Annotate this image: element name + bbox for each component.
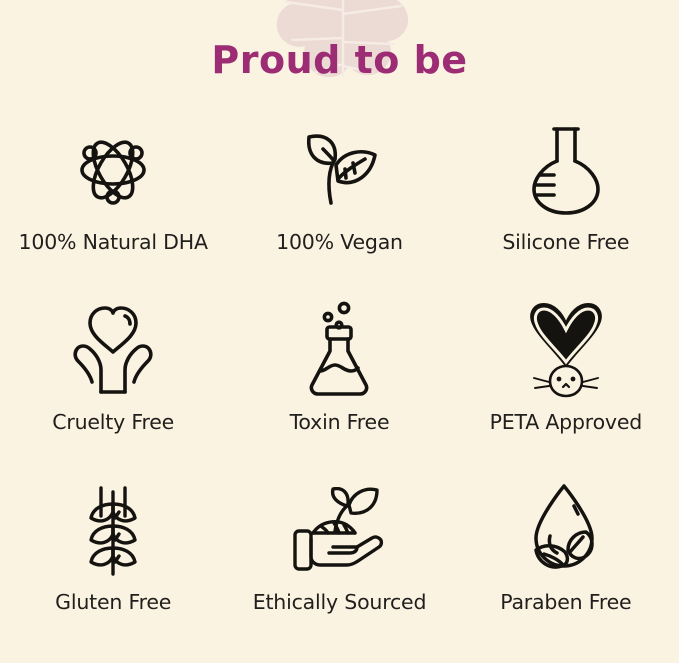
badge-label: Ethically Sourced — [253, 590, 427, 614]
badge-label: 100% Vegan — [276, 230, 403, 254]
badge-peta-approved: PETA Approved — [453, 290, 679, 470]
erlenmeyer-flask-bubbles-icon — [304, 296, 374, 404]
wheat-stalk-icon — [77, 476, 149, 584]
badge-natural-dha: 100% Natural DHA — [0, 110, 226, 290]
badge-label: Gluten Free — [55, 590, 171, 614]
page-title: Proud to be — [0, 38, 679, 82]
hands-holding-heart-icon — [66, 296, 160, 404]
badge-gluten-free: Gluten Free — [0, 470, 226, 650]
badge-label: Silicone Free — [502, 230, 629, 254]
sprout-leaves-icon — [295, 116, 383, 224]
badge-toxin-free: Toxin Free — [226, 290, 452, 470]
badge-grid: 100% Natural DHA 100% Vegan — [0, 110, 679, 650]
badge-silicone-free: Silicone Free — [453, 110, 679, 290]
badge-cruelty-free: Cruelty Free — [0, 290, 226, 470]
badge-vegan: 100% Vegan — [226, 110, 452, 290]
badge-label: 100% Natural DHA — [19, 230, 208, 254]
peta-bunny-heart-icon — [516, 296, 616, 404]
badge-ethically-sourced: Ethically Sourced — [226, 470, 452, 650]
badge-label: Toxin Free — [290, 410, 390, 434]
badge-label: PETA Approved — [490, 410, 643, 434]
round-bottom-flask-icon — [528, 116, 604, 224]
proud-to-be-badges-panel: Proud to be 100% Natural DHA — [0, 0, 679, 663]
badge-label: Paraben Free — [500, 590, 631, 614]
badge-label: Cruelty Free — [52, 410, 174, 434]
badge-paraben-free: Paraben Free — [453, 470, 679, 650]
atom-icon — [70, 116, 156, 224]
water-droplet-leaves-icon — [524, 476, 608, 584]
hand-soil-sprout-icon — [289, 476, 389, 584]
